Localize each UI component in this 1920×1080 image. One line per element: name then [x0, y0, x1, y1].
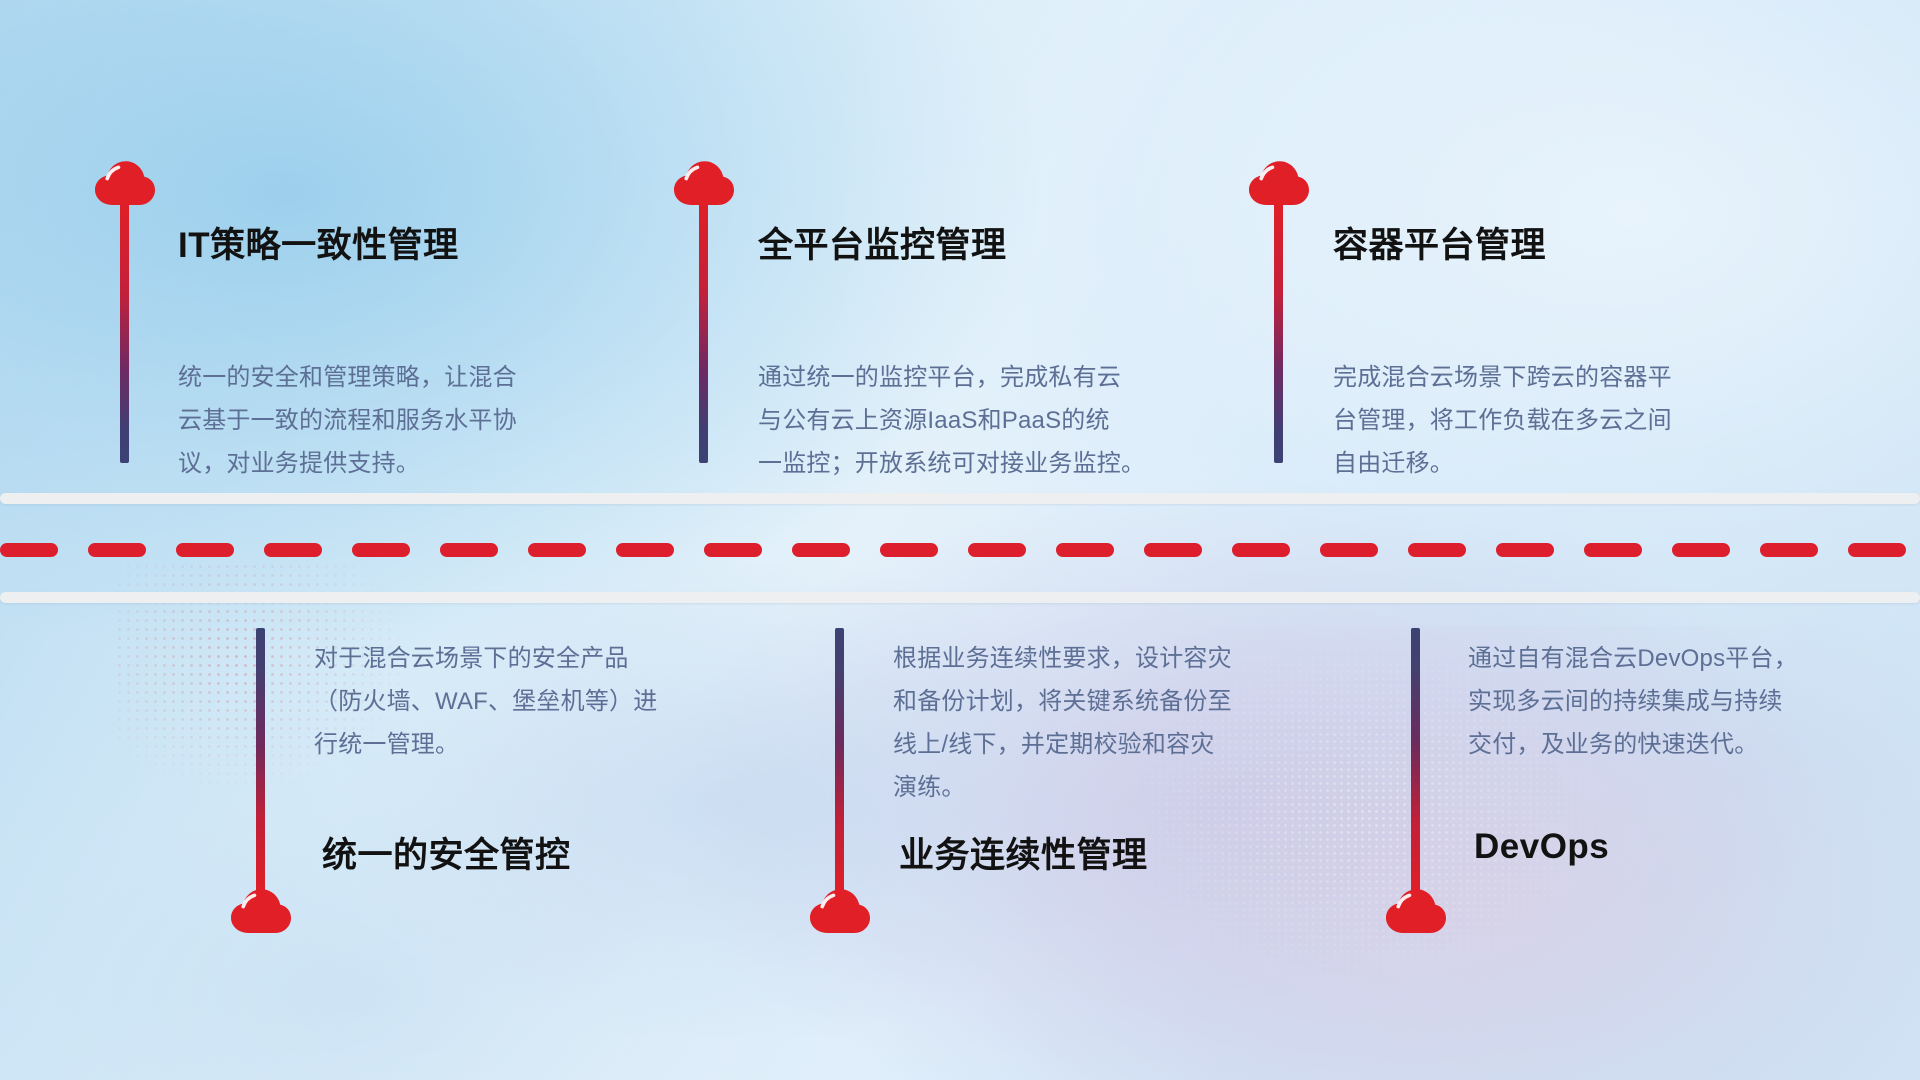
road-dash: [1672, 543, 1730, 557]
road-dash: [176, 543, 234, 557]
road-dash: [264, 543, 322, 557]
marker-heading: 业务连续性管理: [899, 827, 1148, 878]
marker-body-text: 通过自有混合云DevOps平台， 实现多云间的持续集成与持续 交付，及业务的快速…: [1468, 637, 1908, 766]
road-dash: [968, 543, 1026, 557]
road-dash: [1232, 543, 1290, 557]
road-dash: [440, 543, 498, 557]
road-dash: [880, 543, 938, 557]
road-dash: [352, 543, 410, 557]
marker-stem: [1411, 628, 1420, 893]
road-dash: [792, 543, 850, 557]
marker-stem: [699, 203, 708, 463]
road-dash: [528, 543, 586, 557]
infographic-stage: IT策略一致性管理 统一的安全和管理策略，让混合 云基于一致的流程和服务水平协 …: [0, 0, 1920, 1080]
cloud-pin-icon: [1248, 160, 1310, 206]
road-dash: [1408, 543, 1466, 557]
road-dash: [1496, 543, 1554, 557]
marker-body-text: 通过统一的监控平台，完成私有云 与公有云上资源IaaS和PaaS的统 一监控；开…: [758, 356, 1218, 485]
road-dash: [1584, 543, 1642, 557]
marker-body-text: 对于混合云场景下的安全产品 （防火墙、WAF、堡垒机等）进 行统一管理。: [314, 637, 744, 766]
road-edge-bottom-line: [0, 592, 1920, 603]
marker-heading: IT策略一致性管理: [178, 217, 459, 268]
road-dash: [1056, 543, 1114, 557]
marker-stem: [835, 628, 844, 893]
cloud-pin-icon: [809, 888, 871, 934]
marker-body-text: 统一的安全和管理策略，让混合 云基于一致的流程和服务水平协 议，对业务提供支持。: [178, 356, 608, 485]
marker-stem: [256, 628, 265, 893]
road-dash: [616, 543, 674, 557]
road-dash: [1144, 543, 1202, 557]
marker-stem: [120, 203, 129, 463]
road-dash: [1848, 543, 1906, 557]
cloud-pin-icon: [1385, 888, 1447, 934]
marker-body-text: 完成混合云场景下跨云的容器平 台管理，将工作负载在多云之间 自由迁移。: [1333, 356, 1773, 485]
cloud-pin-icon: [230, 888, 292, 934]
cloud-pin-icon: [94, 160, 156, 206]
road-dash: [0, 543, 58, 557]
road-center-dashes: [0, 543, 1920, 557]
road-dash: [88, 543, 146, 557]
cloud-pin-icon: [673, 160, 735, 206]
marker-heading: 统一的安全管控: [322, 827, 571, 878]
marker-heading: 容器平台管理: [1333, 217, 1546, 268]
marker-heading: 全平台监控管理: [758, 217, 1007, 268]
road-dash: [1320, 543, 1378, 557]
marker-stem: [1274, 203, 1283, 463]
road-dash: [1760, 543, 1818, 557]
road-dash: [704, 543, 762, 557]
road-edge-top-line: [0, 493, 1920, 504]
marker-heading: DevOps: [1474, 827, 1609, 867]
marker-body-text: 根据业务连续性要求，设计容灾 和备份计划，将关键系统备份至 线上/线下，并定期校…: [893, 637, 1333, 809]
